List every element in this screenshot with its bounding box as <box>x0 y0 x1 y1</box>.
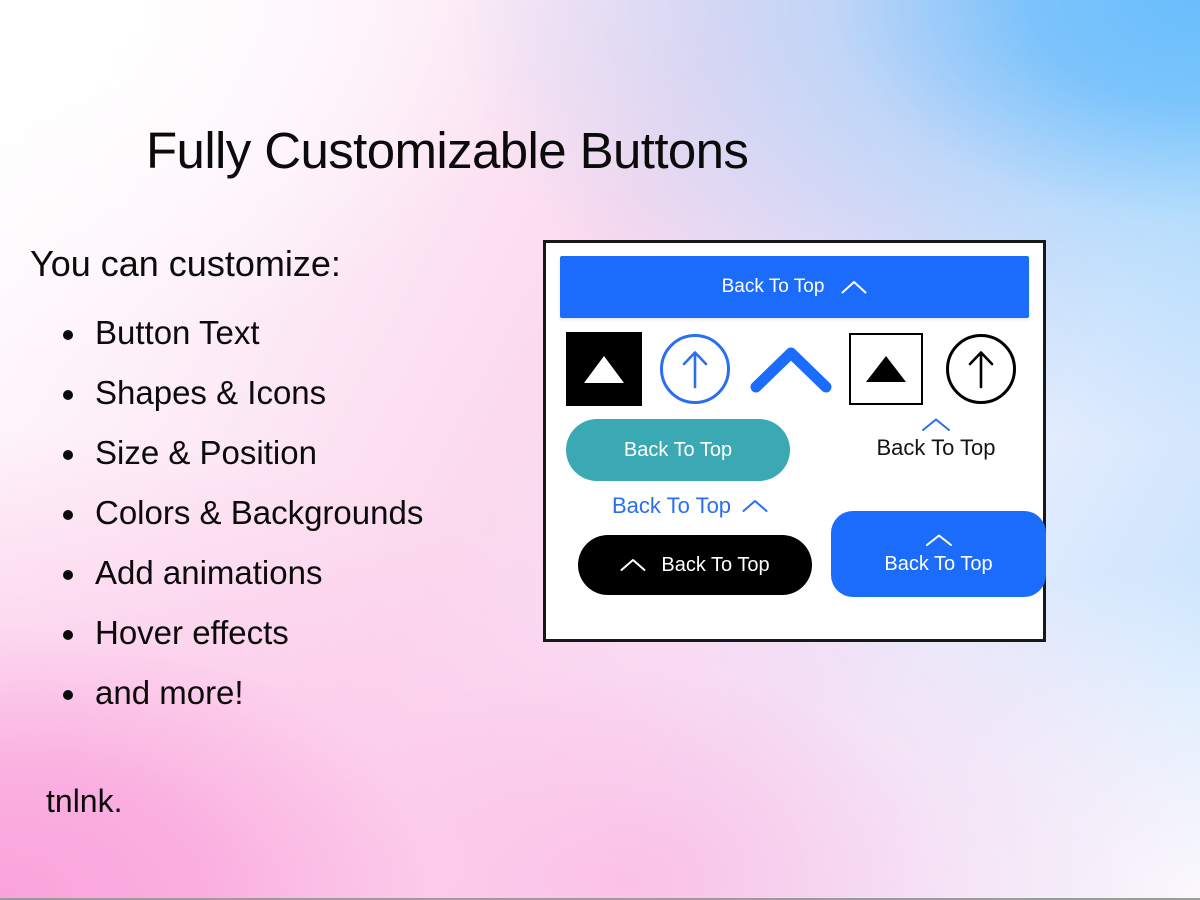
square-solid-triangle-up-icon[interactable] <box>560 332 647 406</box>
back-to-top-teal-button[interactable]: Back To Top <box>566 419 790 481</box>
back-to-top-black-label: Back To Top <box>661 554 769 577</box>
back-to-top-black-pill-button[interactable]: Back To Top <box>578 535 812 595</box>
chevron-up-icon <box>841 280 867 294</box>
chevron-up-icon <box>742 499 768 513</box>
list-item-label: Shapes & Icons <box>95 374 326 411</box>
square-outline-triangle-up-icon[interactable] <box>838 333 933 405</box>
subheading: You can customize: <box>30 243 341 285</box>
circle-outline-arrow-up-icon[interactable] <box>647 334 742 404</box>
list-item: Size & Position <box>57 423 423 483</box>
list-item: Hover effects <box>57 603 423 663</box>
back-to-top-teal-label: Back To Top <box>624 439 732 462</box>
back-to-top-text-link[interactable]: Back To Top <box>612 493 768 519</box>
back-to-top-blue-stacked-button[interactable]: Back To Top <box>831 511 1046 597</box>
back-to-top-bar-button[interactable]: Back To Top <box>560 256 1029 318</box>
list-item-label: Colors & Backgrounds <box>95 494 423 531</box>
icon-variants-row <box>560 331 1029 407</box>
back-to-top-plain-stacked-button[interactable]: Back To Top <box>826 417 1046 461</box>
list-item: Colors & Backgrounds <box>57 483 423 543</box>
list-item-label: Add animations <box>95 554 322 591</box>
back-to-top-link-label: Back To Top <box>612 493 731 519</box>
list-item-label: Button Text <box>95 314 260 351</box>
chevron-up-bold-icon[interactable] <box>743 345 838 393</box>
button-showcase-panel: Back To Top <box>543 240 1046 642</box>
chevron-up-icon <box>921 417 951 432</box>
back-to-top-blue-stacked-label: Back To Top <box>884 553 992 576</box>
circle-outline-arrow-up-dark-icon[interactable] <box>934 334 1029 404</box>
chevron-up-icon <box>925 533 953 547</box>
button-variants-row-3: Back To Top Back To Top Back To Top <box>560 493 1029 605</box>
feature-list: Button Text Shapes & Icons Size & Positi… <box>57 303 423 723</box>
back-to-top-plain-label: Back To Top <box>876 435 995 461</box>
list-item: Shapes & Icons <box>57 363 423 423</box>
list-item-label: Size & Position <box>95 434 317 471</box>
list-item: Add animations <box>57 543 423 603</box>
list-item: Button Text <box>57 303 423 363</box>
slide-canvas: Fully Customizable Buttons You can custo… <box>0 0 1200 900</box>
page-title: Fully Customizable Buttons <box>146 121 748 180</box>
list-item-label: and more! <box>95 674 244 711</box>
list-item: and more! <box>57 663 423 723</box>
back-to-top-bar-label: Back To Top <box>722 276 825 298</box>
list-item-label: Hover effects <box>95 614 289 651</box>
footnote-brand: tnlnk. <box>46 783 122 820</box>
chevron-up-icon <box>620 558 646 572</box>
button-variants-row-2: Back To Top Back To Top <box>560 417 1029 491</box>
